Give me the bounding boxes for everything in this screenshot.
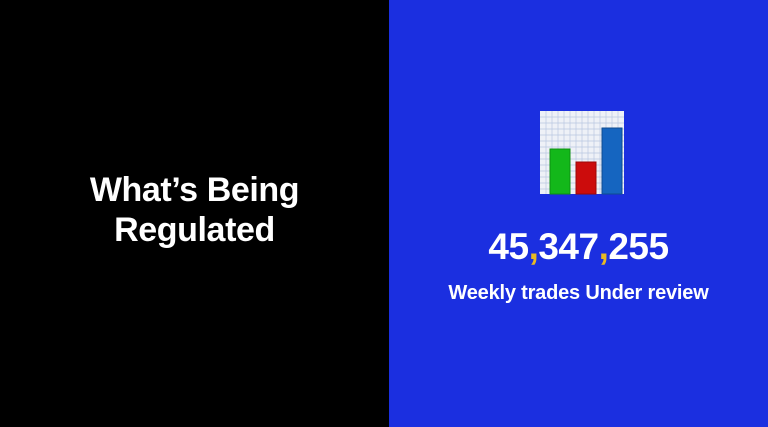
- stat-value: 45,347,255: [389, 228, 768, 265]
- stat-digits-group-2: 347: [538, 226, 598, 267]
- page-title-line-1: What’s Being: [90, 171, 299, 209]
- bar-chart-icon: [537, 108, 627, 197]
- page-title: What’s BeingRegulated: [45, 171, 345, 257]
- stat-caption-part-1: Weekly trades: [448, 282, 580, 304]
- stat-separator-1: ,: [529, 226, 539, 267]
- stat-digits-group-3: 255: [608, 226, 668, 267]
- right-stat-panel: 45,347,255 Weekly trades Under review: [389, 0, 768, 427]
- stat-caption-part-2: Under review: [585, 282, 708, 304]
- stat-caption: Weekly trades Under review: [389, 281, 768, 305]
- slide-canvas: What’s BeingRegulated: [0, 0, 768, 427]
- page-title-line-2: Regulated: [114, 211, 275, 249]
- stat-separator-2: ,: [599, 226, 609, 267]
- left-title-panel: What’s BeingRegulated: [0, 0, 389, 427]
- stat-digits-group-1: 45: [488, 226, 528, 267]
